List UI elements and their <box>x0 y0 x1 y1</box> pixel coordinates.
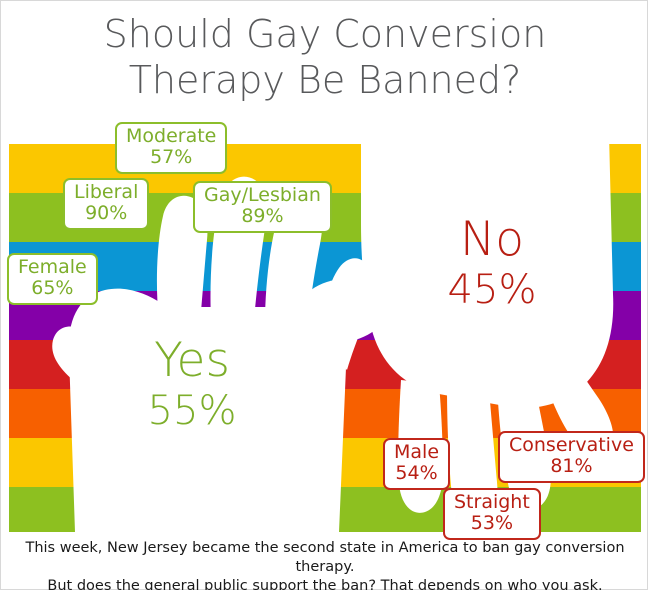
caption-line-1: This week, New Jersey became the second … <box>9 539 641 577</box>
callout-female-name: Female <box>18 257 87 278</box>
no-percent: 45% <box>417 270 567 310</box>
callout-liberal: Liberal 90% <box>63 178 149 230</box>
callout-straight-name: Straight <box>454 492 530 513</box>
callout-straight: Straight 53% <box>443 488 541 540</box>
infographic-canvas: Should Gay Conversion Therapy Be Banned? <box>0 0 648 590</box>
title-line-1: Should Gay Conversion <box>1 11 648 57</box>
title-line-2: Therapy Be Banned? <box>1 57 648 103</box>
callout-female: Female 65% <box>7 253 98 305</box>
callout-male: Male 54% <box>383 438 450 490</box>
callout-female-percent: 65% <box>18 278 87 299</box>
callout-conservative-percent: 81% <box>509 456 634 477</box>
callout-conservative: Conservative 81% <box>498 431 645 483</box>
callout-gay-lesbian-percent: 89% <box>204 206 321 227</box>
page-title: Should Gay Conversion Therapy Be Banned? <box>1 11 648 103</box>
yes-answer-block: Yes 55% <box>117 337 267 431</box>
callout-male-percent: 54% <box>394 463 439 484</box>
callout-gay-lesbian: Gay/Lesbian 89% <box>193 181 332 233</box>
callout-liberal-name: Liberal <box>74 182 138 203</box>
callout-gay-lesbian-name: Gay/Lesbian <box>204 185 321 206</box>
callout-liberal-percent: 90% <box>74 203 138 224</box>
callout-moderate-percent: 57% <box>126 147 216 168</box>
caption: This week, New Jersey became the second … <box>9 539 641 590</box>
no-label: No <box>417 216 567 263</box>
callout-straight-percent: 53% <box>454 513 530 534</box>
callout-male-name: Male <box>394 442 439 463</box>
yes-percent: 55% <box>117 391 267 431</box>
callout-moderate-name: Moderate <box>126 126 216 147</box>
yes-label: Yes <box>117 337 267 384</box>
caption-line-2: But does the general public support the … <box>9 577 641 590</box>
no-answer-block: No 45% <box>417 216 567 310</box>
callout-conservative-name: Conservative <box>509 435 634 456</box>
callout-moderate: Moderate 57% <box>115 122 227 174</box>
